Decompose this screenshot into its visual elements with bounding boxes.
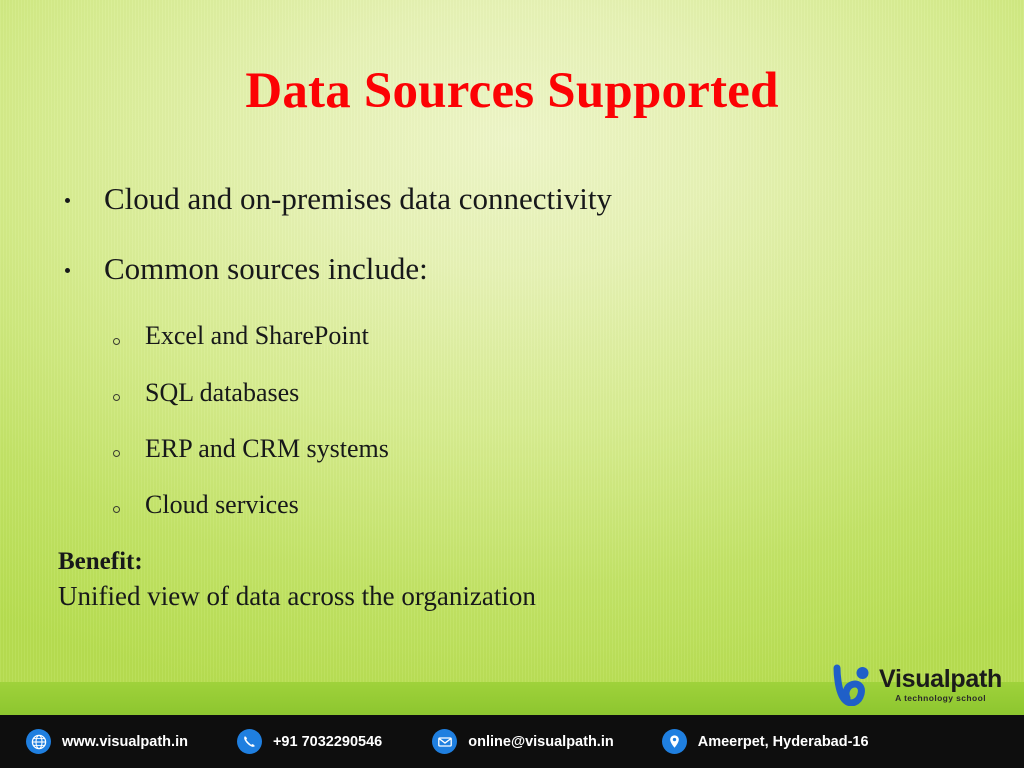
list-item: Cloud and on-premises data connectivity (56, 182, 956, 217)
bullet-circle-icon (113, 338, 120, 345)
slide-body: Cloud and on-premises data connectivity … (56, 182, 956, 614)
list-item: Cloud services (56, 490, 956, 519)
footer-website[interactable]: www.visualpath.in (26, 729, 188, 754)
footer-phone[interactable]: +91 7032290546 (237, 729, 382, 754)
list-item-label: Cloud and on-premises data connectivity (104, 181, 612, 216)
bullet-dot-icon (65, 198, 70, 203)
list-item-label: ERP and CRM systems (145, 434, 389, 463)
logo-tagline: A technology school (879, 694, 1002, 703)
list-item-label: Excel and SharePoint (145, 321, 369, 350)
visualpath-mark-icon (833, 664, 873, 706)
globe-icon (26, 729, 51, 754)
footer-location[interactable]: Ameerpet, Hyderabad-16 (662, 729, 869, 754)
logo-text-block: Visualpath A technology school (879, 667, 1002, 703)
bullet-circle-icon (113, 394, 120, 401)
footer-email[interactable]: online@visualpath.in (432, 729, 613, 754)
footer-phone-label: +91 7032290546 (273, 734, 382, 750)
brand-logo: Visualpath A technology school (833, 664, 1002, 706)
list-item: Excel and SharePoint (56, 321, 956, 350)
benefit-label: Benefit: (58, 546, 956, 577)
list-item-label: SQL databases (145, 378, 299, 407)
bullet-circle-icon (113, 450, 120, 457)
footer-website-label: www.visualpath.in (62, 734, 188, 750)
list-item: ERP and CRM systems (56, 434, 956, 463)
logo-name: Visualpath (879, 667, 1002, 692)
benefit-text: Unified view of data across the organiza… (58, 580, 956, 614)
footer-contact-bar: www.visualpath.in +91 7032290546 online@… (0, 715, 1024, 768)
page-title: Data Sources Supported (0, 62, 1024, 120)
bullet-circle-icon (113, 506, 120, 513)
list-item-label: Common sources include: (104, 251, 428, 286)
footer-email-label: online@visualpath.in (468, 734, 613, 750)
benefit-block: Benefit: Unified view of data across the… (56, 546, 956, 614)
slide: Data Sources Supported Cloud and on-prem… (0, 0, 1024, 768)
phone-icon (237, 729, 262, 754)
footer-location-label: Ameerpet, Hyderabad-16 (698, 734, 869, 750)
location-pin-icon (662, 729, 687, 754)
bullet-dot-icon (65, 268, 70, 273)
list-item-label: Cloud services (145, 490, 299, 519)
list-item: SQL databases (56, 378, 956, 407)
envelope-icon (432, 729, 457, 754)
list-item: Common sources include: (56, 252, 956, 287)
